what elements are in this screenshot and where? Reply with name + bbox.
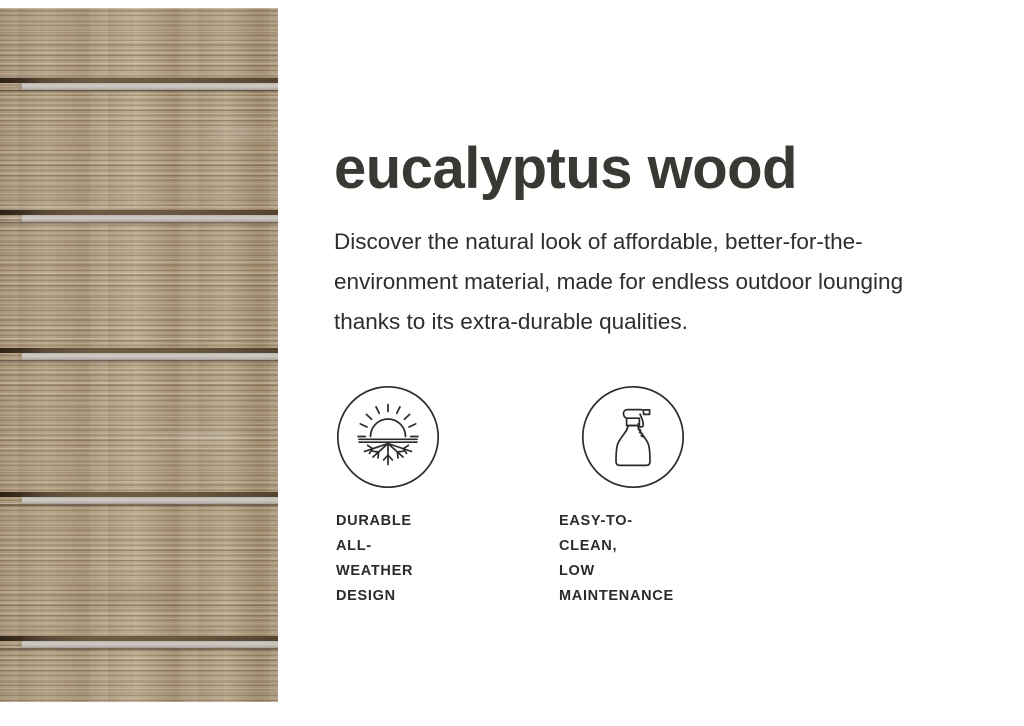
slat-highlight-strip: [22, 215, 278, 222]
eucalyptus-wood-promo-banner: eucalyptus wood Discover the natural loo…: [0, 0, 1024, 726]
slat-shadow: [0, 504, 278, 507]
slat-shadow: [0, 360, 278, 363]
slat-shadow: [0, 90, 278, 93]
slat-highlight-strip: [22, 353, 278, 360]
slat-highlight-strip: [22, 641, 278, 648]
sun-snowflake-icon: [336, 385, 440, 489]
feature-caption: EASY-TO-CLEAN, LOW MAINTENANCE: [559, 509, 674, 609]
slat-shadow: [0, 648, 278, 651]
promo-content: eucalyptus wood Discover the natural loo…: [334, 0, 994, 726]
slat-highlight-strip: [22, 83, 278, 90]
description-text: Discover the natural look of affordable,…: [334, 222, 962, 342]
spray-bottle-icon: [581, 385, 685, 489]
eucalyptus-slat-texture-image: [0, 8, 278, 702]
slat-shadow: [0, 222, 278, 225]
slat-highlight-strip: [22, 497, 278, 504]
feature-caption: DURABLE ALL-WEATHER DESIGN: [336, 509, 413, 609]
page-title: eucalyptus wood: [334, 138, 797, 200]
